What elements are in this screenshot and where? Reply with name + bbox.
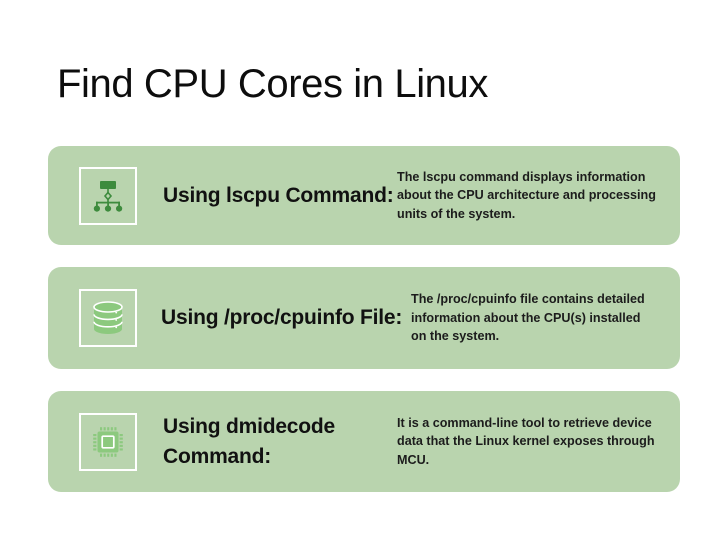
database-stack-icon — [88, 298, 128, 338]
cpu-chip-icon — [88, 422, 128, 462]
list-item[interactable]: Using dmidecode Command: It is a command… — [48, 391, 680, 492]
card-description: The lscpu command displays information a… — [397, 168, 680, 224]
card-heading: Using /proc/cpuinfo File: — [161, 303, 409, 333]
slide-canvas: Find CPU Cores in Linux — [0, 0, 728, 546]
page-title: Find CPU Cores in Linux — [57, 62, 488, 107]
card-description: It is a command-line tool to retrieve de… — [397, 414, 680, 470]
card-heading: Using lscpu Command: — [163, 181, 395, 211]
card-heading: Using dmidecode Command: — [163, 412, 395, 472]
icon-frame — [79, 167, 137, 225]
icon-frame — [79, 413, 137, 471]
list-item[interactable]: Using lscpu Command: The lscpu command d… — [48, 146, 680, 245]
icon-frame — [79, 289, 137, 347]
hierarchy-chart-icon — [88, 176, 128, 216]
list-item[interactable]: Using /proc/cpuinfo File: The /proc/cpui… — [48, 267, 680, 369]
card-description: The /proc/cpuinfo file contains detailed… — [411, 290, 680, 346]
card-list: Using lscpu Command: The lscpu command d… — [48, 146, 680, 492]
